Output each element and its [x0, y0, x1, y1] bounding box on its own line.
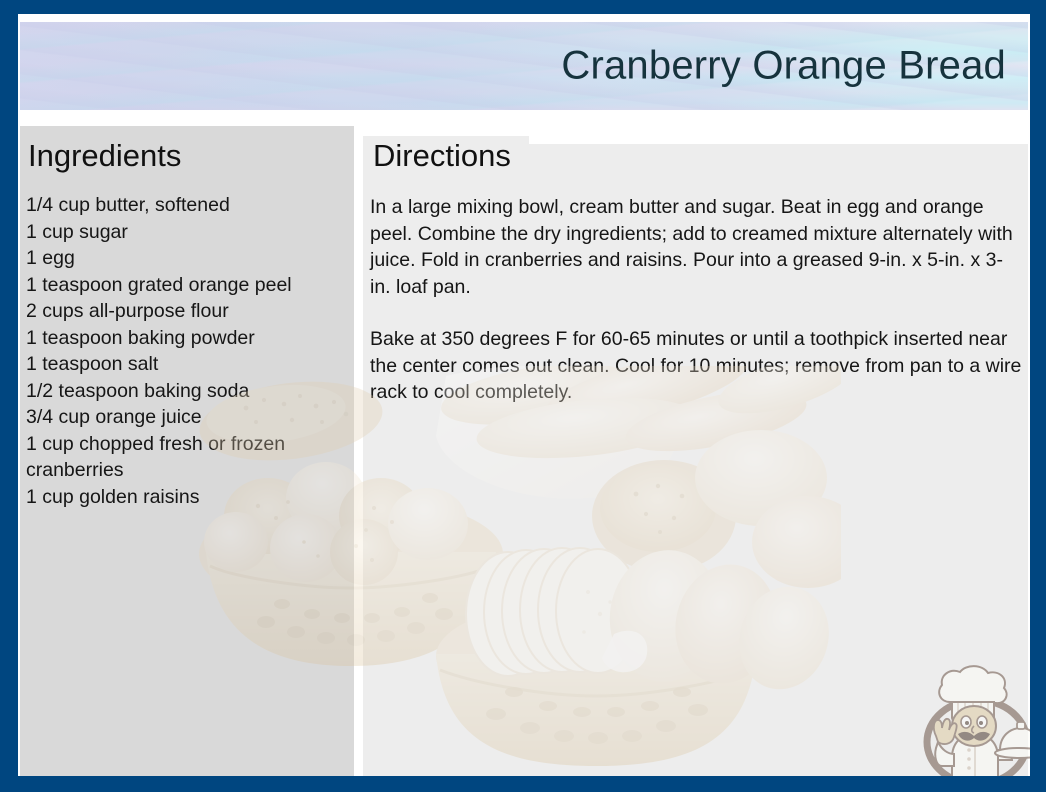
list-item: 1 cup sugar [26, 219, 346, 246]
list-item: 1 teaspoon grated orange peel [26, 272, 346, 299]
ingredients-heading: Ingredients [28, 138, 181, 174]
list-item: 1 teaspoon baking powder [26, 325, 346, 352]
directions-heading: Directions [373, 138, 511, 174]
card-inner-surface: Cranberry Orange Bread Ingredients Direc… [18, 14, 1030, 776]
recipe-card: Cranberry Orange Bread Ingredients Direc… [0, 0, 1046, 792]
cloche-platter-icon [995, 722, 1030, 758]
title-banner: Cranberry Orange Bread [20, 22, 1028, 110]
list-item: 2 cups all-purpose flour [26, 298, 346, 325]
bread-photo [196, 366, 841, 776]
chef-logo [916, 658, 1030, 776]
page-title: Cranberry Orange Bread [561, 44, 1006, 89]
list-item: 1/4 cup butter, softened [26, 192, 346, 219]
list-item: 1 egg [26, 245, 346, 272]
directions-paragraph: In a large mixing bowl, cream butter and… [370, 194, 1022, 300]
waving-hand-icon [934, 719, 957, 766]
